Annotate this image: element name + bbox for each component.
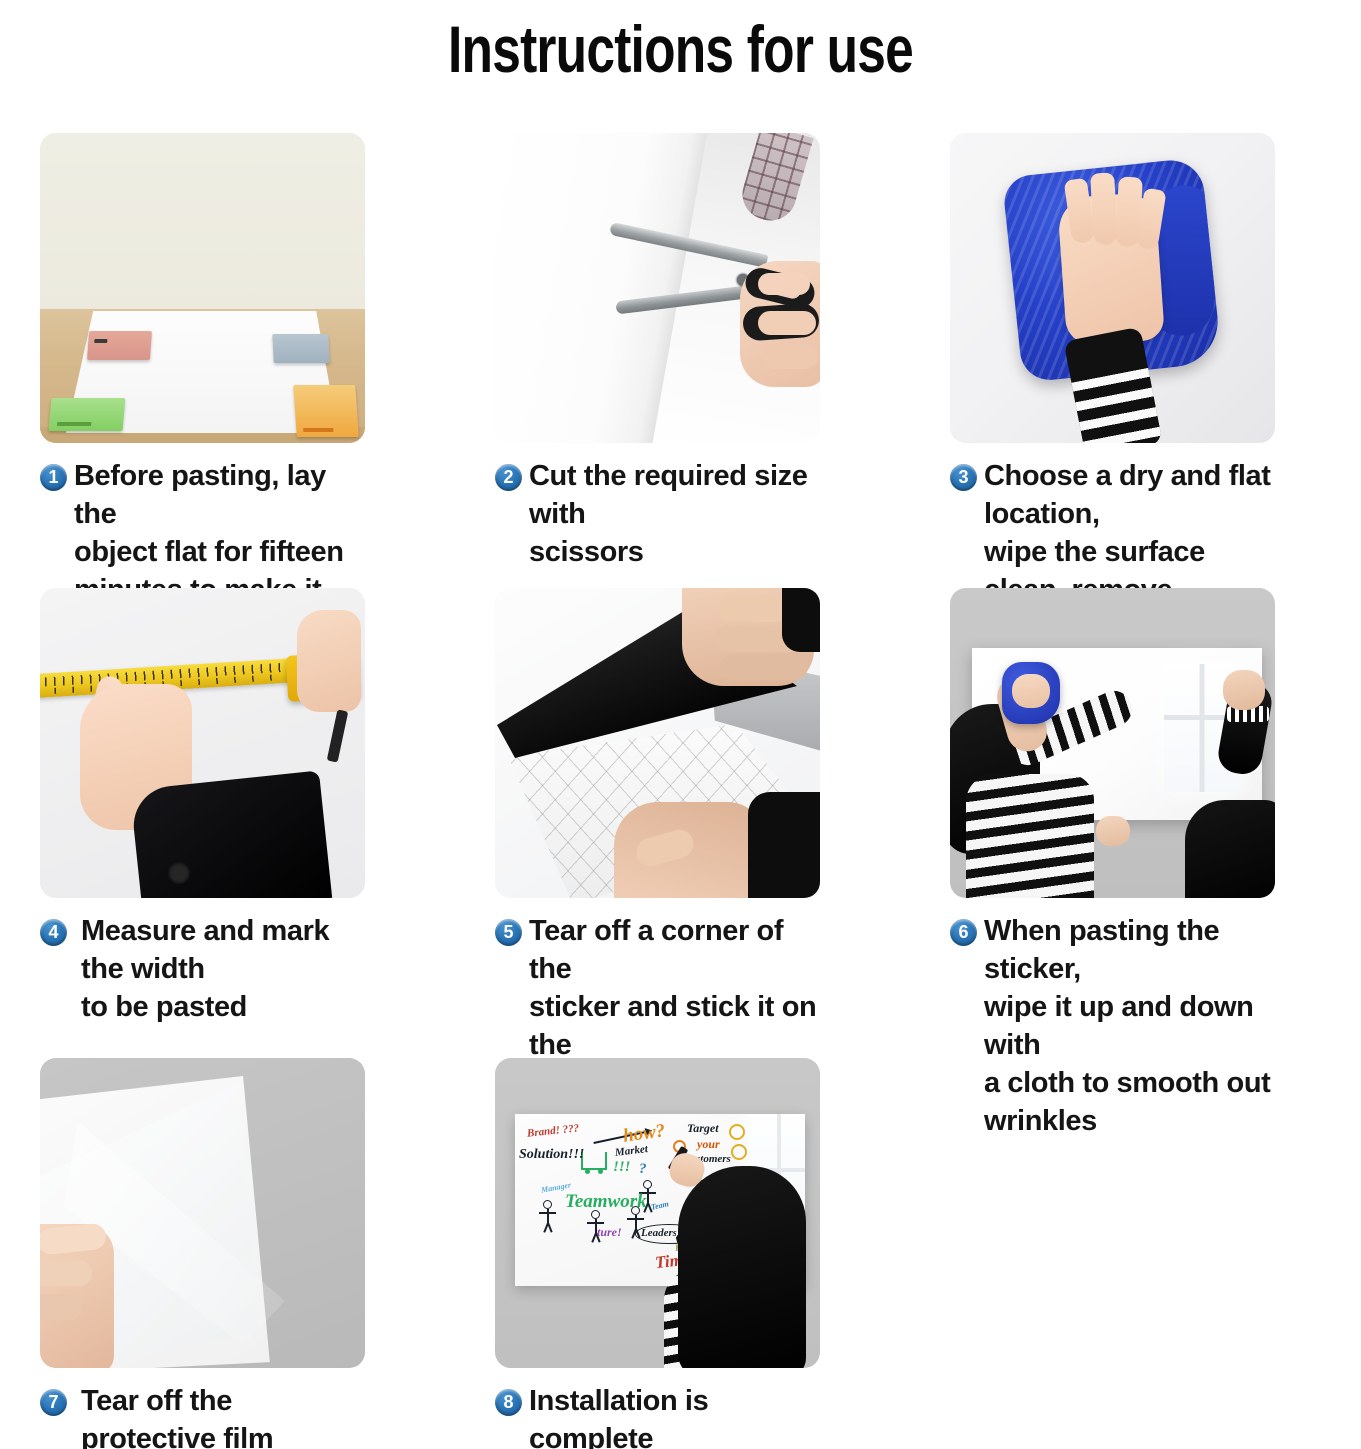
step-2-image [495, 133, 820, 443]
step-7: 7 Tear off the protective film on the su… [40, 1058, 365, 1449]
step-3-image [950, 133, 1275, 443]
note-teamwork: Teamwork [565, 1192, 647, 1211]
note-brand: Brand! ??? [527, 1123, 580, 1139]
note-market: Market [614, 1144, 648, 1159]
step-number-badge: 4 [40, 919, 67, 946]
smiley-icon [729, 1124, 745, 1140]
step-text: Measure and mark the width to be pasted [81, 912, 365, 1026]
step-5: 5 Tear off a corner of the sticker and s… [495, 588, 820, 1102]
step-2-caption: 2 Cut the required size with scissors [495, 457, 820, 571]
note-ture: ture! [597, 1226, 622, 1238]
step-number-badge: 1 [40, 464, 67, 491]
step-2: 2 Cut the required size with scissors [495, 133, 820, 571]
step-number-badge: 6 [950, 919, 977, 946]
smiley-icon [731, 1144, 747, 1160]
step-7-caption: 7 Tear off the protective film on the su… [40, 1382, 365, 1449]
woman-striped-top [966, 774, 1094, 898]
black-sleeve [130, 770, 332, 898]
step-4: 4 Measure and mark the width to be paste… [40, 588, 365, 1026]
step-8-caption: 8 Installation is complete [495, 1382, 820, 1449]
step-8: Brand! ??? Solution!!! how? Market !!! ?… [495, 1058, 820, 1449]
shopping-cart-icon [581, 1152, 607, 1170]
note-how: how? [622, 1121, 666, 1146]
steps-row-1: 1 Before pasting, lay the object flat fo… [40, 133, 1325, 588]
note-solution: Solution!!! [519, 1148, 584, 1162]
woman-hand-lower [1096, 816, 1130, 846]
instructions-page: Instructions for use 1 Before pasting, l… [0, 0, 1361, 1449]
step-number-badge: 7 [40, 1389, 67, 1416]
step-1-image [40, 133, 365, 443]
assistant-hand [1223, 670, 1265, 710]
step-3: 3 Choose a dry and flat location, wipe t… [950, 133, 1275, 647]
finger-1 [758, 273, 810, 295]
step-4-caption: 4 Measure and mark the width to be paste… [40, 912, 365, 1026]
step-number-badge: 3 [950, 464, 977, 491]
finger-2 [1090, 172, 1118, 245]
finger-3 [40, 1294, 82, 1320]
note-target: Target [687, 1122, 719, 1134]
finger-2 [40, 1260, 92, 1286]
step-number-badge: 8 [495, 1389, 522, 1416]
orange-notebook [293, 385, 359, 437]
step-5-image [495, 588, 820, 898]
steps-row-2: 4 Measure and mark the width to be paste… [40, 588, 1325, 1058]
upper-sleeve [782, 588, 820, 652]
steps-grid: 1 Before pasting, lay the object flat fo… [40, 133, 1325, 1448]
step-4-image [40, 588, 365, 898]
lower-sleeve [748, 792, 820, 898]
pink-notebook [87, 331, 152, 360]
green-notebook [49, 398, 126, 431]
step-7-image [40, 1058, 365, 1368]
upper-knuckle-3 [720, 654, 808, 680]
note-market-question: ? [639, 1162, 647, 1177]
step-text: Installation is complete [529, 1382, 820, 1449]
step-text: Cut the required size with scissors [529, 457, 820, 571]
woman-hair [678, 1166, 806, 1368]
finger-2 [758, 311, 816, 335]
note-your: your [697, 1138, 720, 1150]
page-title: Instructions for use [150, 8, 1212, 90]
note-team: Team [650, 1200, 669, 1212]
right-hand [297, 610, 361, 712]
step-1: 1 Before pasting, lay the object flat fo… [40, 133, 365, 647]
finger-3 [762, 343, 818, 369]
step-text: Tear off the protective film on the surf… [81, 1382, 365, 1449]
blue-notebook [272, 334, 330, 363]
assistant-in-black [1185, 800, 1275, 898]
woman-hand-upper [1012, 674, 1050, 708]
step-number-badge: 5 [495, 919, 522, 946]
step-6-image [950, 588, 1275, 898]
note-market-exclamation: !!! [613, 1160, 631, 1175]
step-8-image: Brand! ??? Solution!!! how? Market !!! ?… [495, 1058, 820, 1368]
step-number-badge: 2 [495, 464, 522, 491]
steps-row-3: 7 Tear off the protective film on the su… [40, 1058, 1325, 1448]
sleeve-button [168, 862, 190, 884]
